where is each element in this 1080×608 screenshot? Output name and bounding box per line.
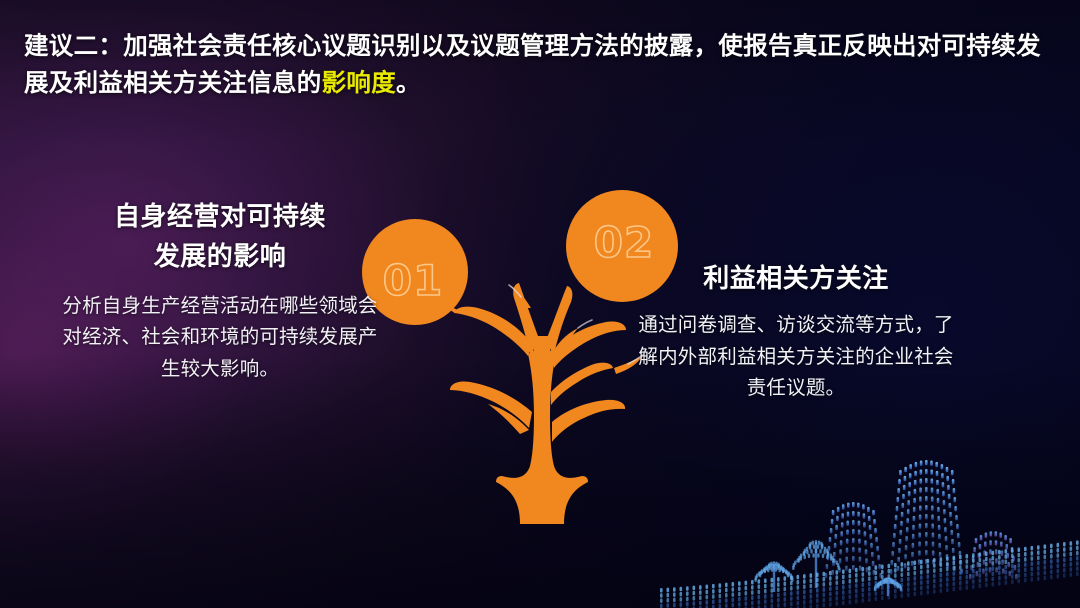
info-block-01-heading-line2: 发展的影响 [62, 236, 378, 276]
slide-title: 建议二：加强社会责任核心议题识别以及议题管理方法的披露，使报告真正反映出对可持续… [24, 28, 1056, 102]
wave-line-decoration [660, 518, 1080, 608]
info-block-01-heading: 自身经营对可持续 发展的影响 [62, 196, 378, 277]
step-badge-01-number: 01 [383, 256, 443, 305]
presentation-slide: 建议二：加强社会责任核心议题识别以及议题管理方法的披露，使报告真正反映出对可持续… [0, 0, 1080, 608]
slide-title-suffix: 。 [396, 70, 421, 97]
info-block-02-body: 通过问卷调查、访谈交流等方式，了解内外部利益相关方关注的企业社会责任议题。 [636, 310, 956, 405]
info-block-01-heading-line1: 自身经营对可持续 [62, 196, 378, 236]
info-block-02-heading-line1: 利益相关方关注 [636, 258, 956, 298]
info-block-02-heading: 利益相关方关注 [636, 258, 956, 298]
info-block-02: 利益相关方关注 通过问卷调查、访谈交流等方式，了解内外部利益相关方关注的企业社会… [636, 258, 956, 405]
slide-title-highlight: 影响度 [322, 70, 396, 97]
info-block-01: 自身经营对可持续 发展的影响 分析自身生产经营活动在哪些领域会对经济、社会和环境… [62, 196, 378, 385]
slide-title-prefix: 建议二：加强社会责任核心议题识别以及议题管理方法的披露，使报告真正反映出对可持续… [24, 33, 1041, 97]
info-block-01-body: 分析自身生产经营活动在哪些领域会对经济、社会和环境的可持续发展产生较大影响。 [62, 291, 378, 386]
